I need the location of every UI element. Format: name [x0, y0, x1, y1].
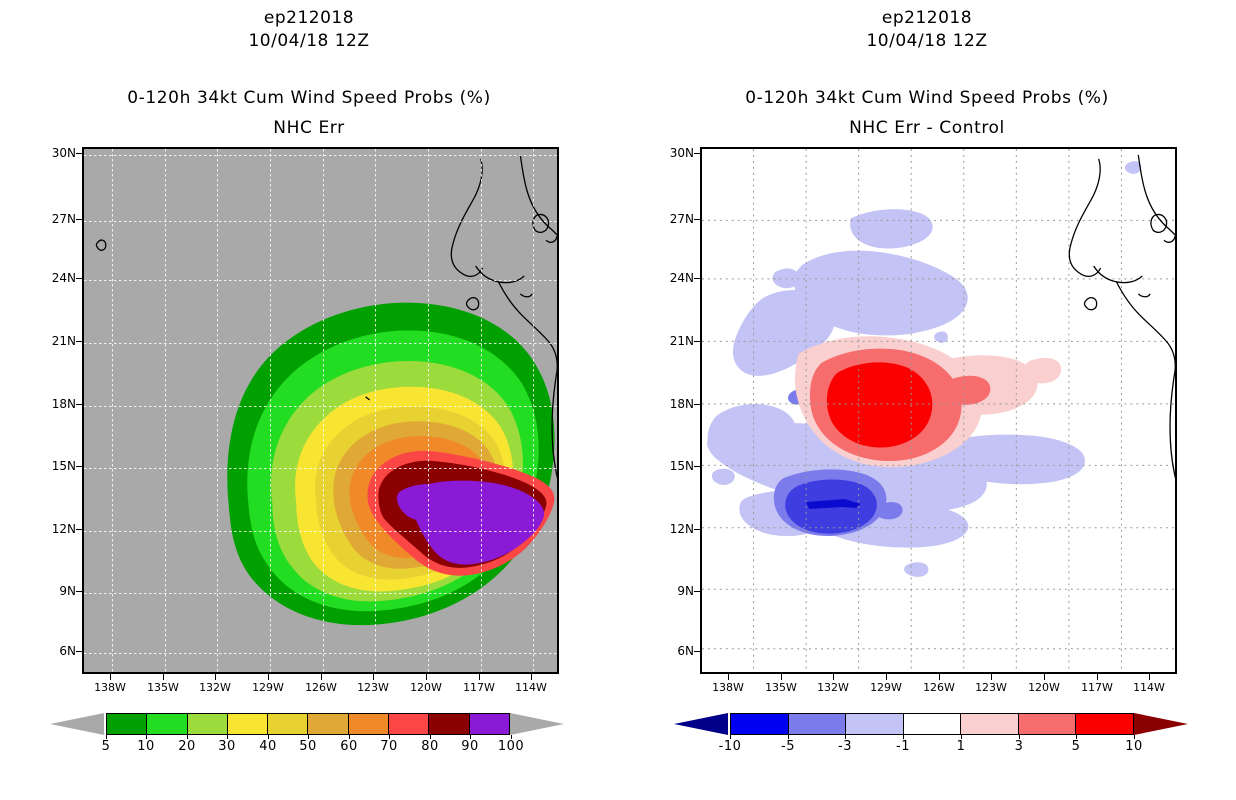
colorbar-tick-label: 50 — [288, 739, 328, 754]
y-tick-label: 6N — [42, 644, 76, 658]
colorbar-cell — [731, 714, 789, 734]
x-tick-label: 120W — [1021, 681, 1067, 694]
colorbar-high-cap — [1134, 713, 1188, 735]
difference-contour-field — [702, 149, 1175, 672]
chart-title-right: 0-120h 34kt Cum Wind Speed Probs (%) — [618, 88, 1236, 108]
x-tick-label: 138W — [87, 681, 133, 694]
colorbar-cell — [470, 714, 509, 734]
y-tick-label: 18N — [42, 397, 76, 411]
x-tick-label: 123W — [968, 681, 1014, 694]
colorbar-cell — [1019, 714, 1077, 734]
map-plot-probability[interactable] — [82, 147, 559, 674]
colorbar-cell — [268, 714, 308, 734]
probability-colorbar[interactable]: 5 10 20 30 40 50 60 70 80 90 100 — [48, 713, 568, 739]
y-tick-label: 9N — [42, 584, 76, 598]
x-tick-label: 126W — [298, 681, 344, 694]
x-tick-label: 117W — [456, 681, 502, 694]
chart-title-left: 0-120h 34kt Cum Wind Speed Probs (%) — [0, 88, 618, 108]
y-tick-label: 18N — [660, 397, 694, 411]
panel-nhc-err: ep212018 10/04/18 12Z 0-120h 34kt Cum Wi… — [0, 0, 618, 800]
colorbar-tick-label: 20 — [167, 739, 207, 754]
probability-contour-field — [84, 149, 557, 672]
colorbar-cell — [349, 714, 389, 734]
x-tick-label: 129W — [245, 681, 291, 694]
colorbar-tick-label: 10 — [126, 739, 166, 754]
colorbar-tick-label: 1 — [941, 739, 981, 754]
colorbar-cell — [1076, 714, 1133, 734]
colorbar-cell — [789, 714, 847, 734]
y-tick-label: 30N — [42, 146, 76, 160]
colorbar-cell — [308, 714, 348, 734]
x-tick-label: 114W — [508, 681, 554, 694]
x-tick-label: 129W — [863, 681, 909, 694]
chart-subtitle-right: NHC Err - Control — [618, 118, 1236, 138]
x-tick-label: 120W — [403, 681, 449, 694]
y-tick-label: 24N — [42, 271, 76, 285]
colorbar-tick-label: 90 — [450, 739, 490, 754]
colorbar-tick-label: 5 — [1056, 739, 1096, 754]
colorbar-tick-label: 30 — [207, 739, 247, 754]
colorbar-tick-label: -3 — [825, 739, 865, 754]
colorbar-tick-label: 10 — [1114, 739, 1154, 754]
y-tick-label: 21N — [42, 334, 76, 348]
chart-subtitle-left: NHC Err — [0, 118, 618, 138]
colorbar-tick-label: 3 — [999, 739, 1039, 754]
colorbar-cell — [228, 714, 268, 734]
colorbar-cell — [961, 714, 1019, 734]
y-tick-label: 24N — [660, 271, 694, 285]
y-tick-label: 27N — [42, 212, 76, 226]
y-tick-label: 27N — [660, 212, 694, 226]
colorbar-tick-label: 100 — [491, 739, 531, 754]
colorbar-cell — [107, 714, 147, 734]
colorbar-tick-label: 5 — [86, 739, 126, 754]
colorbar-tick-label: -10 — [710, 739, 750, 754]
y-tick-label: 12N — [42, 522, 76, 536]
x-tick-label: 126W — [916, 681, 962, 694]
x-tick-label: 123W — [350, 681, 396, 694]
colorbar-tick-label: 70 — [369, 739, 409, 754]
x-tick-label: 135W — [140, 681, 186, 694]
y-tick-label: 9N — [660, 584, 694, 598]
colorbar-tick-label: -1 — [883, 739, 923, 754]
x-tick-label: 132W — [192, 681, 238, 694]
colorbar-tick-label: -5 — [768, 739, 808, 754]
y-tick-label: 15N — [42, 459, 76, 473]
colorbar-cell — [429, 714, 469, 734]
datetime-right: 10/04/18 12Z — [618, 31, 1236, 51]
y-tick-label: 30N — [660, 146, 694, 160]
colorbar-tick-label: 40 — [248, 739, 288, 754]
storm-id-right: ep212018 — [618, 8, 1236, 28]
colorbar-low-cap — [50, 713, 104, 735]
colorbar-low-cap — [674, 713, 728, 735]
y-tick-label: 21N — [660, 334, 694, 348]
x-tick-label: 138W — [705, 681, 751, 694]
colorbar-cell — [389, 714, 429, 734]
storm-id-left: ep212018 — [0, 8, 618, 28]
y-tick-label: 12N — [660, 522, 694, 536]
colorbar-cell — [904, 714, 962, 734]
x-tick-label: 117W — [1074, 681, 1120, 694]
x-tick-label: 114W — [1126, 681, 1172, 694]
colorbar-high-cap — [510, 713, 564, 735]
datetime-left: 10/04/18 12Z — [0, 31, 618, 51]
colorbar-tick-label: 60 — [329, 739, 369, 754]
difference-colorbar[interactable]: -10 -5 -3 -1 1 3 5 10 — [672, 713, 1192, 739]
x-tick-label: 135W — [758, 681, 804, 694]
colorbar-tick-label: 80 — [410, 739, 450, 754]
x-tick-label: 132W — [810, 681, 856, 694]
colorbar-cell — [188, 714, 228, 734]
colorbar-cell — [147, 714, 187, 734]
y-tick-label: 15N — [660, 459, 694, 473]
map-plot-difference[interactable] — [700, 147, 1177, 674]
y-tick-label: 6N — [660, 644, 694, 658]
colorbar-cell — [846, 714, 904, 734]
